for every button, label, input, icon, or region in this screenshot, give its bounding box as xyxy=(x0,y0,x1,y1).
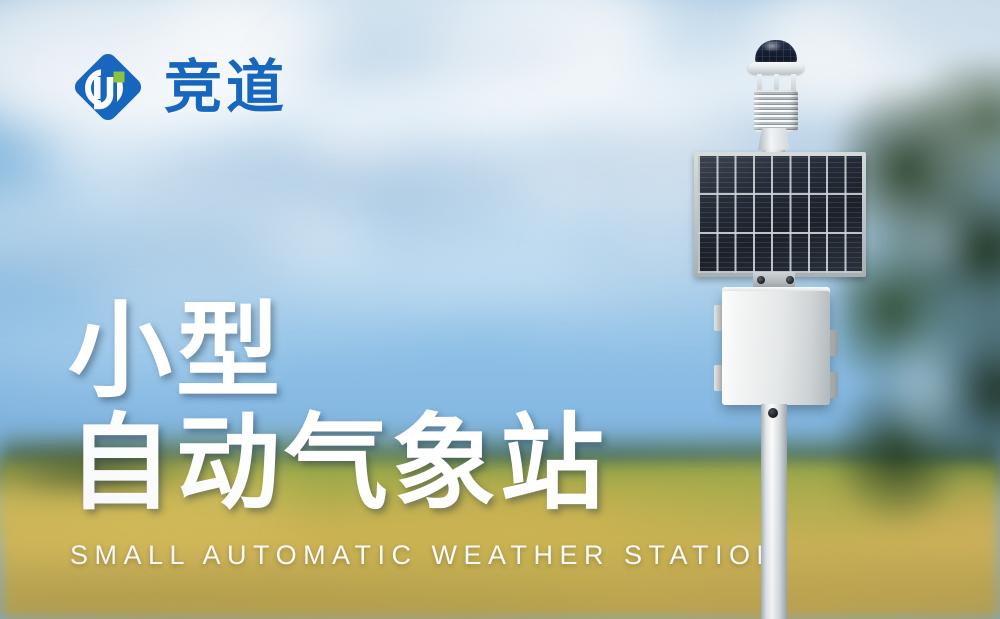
bracket-bolt xyxy=(786,276,794,284)
shield-louvers xyxy=(754,90,798,132)
solar-cells xyxy=(698,156,862,273)
jingdao-diamond-logo-icon xyxy=(68,47,148,127)
enclosure-box: 环境监测站 竞道 xyxy=(722,291,830,405)
pole-bolt xyxy=(768,408,778,418)
enclosure-mount-ear xyxy=(829,372,838,398)
brand-logo[interactable]: 竞道 xyxy=(68,47,288,127)
sensor-cap xyxy=(748,62,804,74)
headline-line-1: 小型 xyxy=(68,296,708,406)
sensor-mount-neck xyxy=(758,128,790,150)
bracket-bolt xyxy=(757,276,765,284)
headline-block: 小型 自动气象站 xyxy=(68,296,708,518)
radiation-shield-icon xyxy=(752,74,800,130)
brand-name: 竞道 xyxy=(164,58,288,116)
weather-station-product-banner: 竞道 小型 自动气象站 SMALL AUTOMATIC WEATHER STAT… xyxy=(0,0,1000,619)
headline-line-2: 自动气象站 xyxy=(68,408,708,518)
headline-subtitle: SMALL AUTOMATIC WEATHER STATION xyxy=(70,540,783,571)
mounting-pole-icon xyxy=(761,404,787,619)
enclosure-mount-ear xyxy=(829,330,838,356)
solar-panel-icon xyxy=(694,152,866,277)
